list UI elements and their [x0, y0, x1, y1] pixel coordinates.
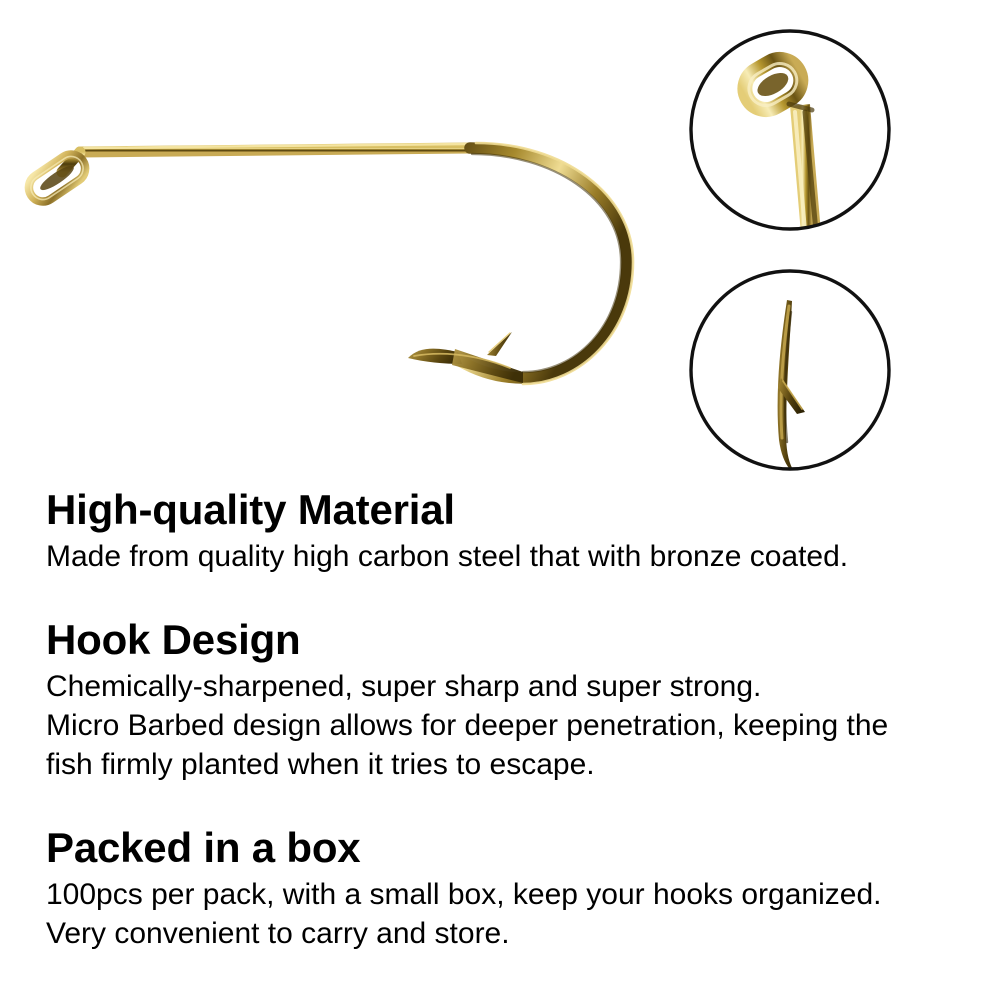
- feature-list: High-quality Material Made from quality …: [46, 486, 956, 953]
- feature-heading: High-quality Material: [46, 486, 956, 533]
- feature-block-material: High-quality Material Made from quality …: [46, 486, 956, 576]
- feature-line: Made from quality high carbon steel that…: [46, 537, 956, 576]
- product-feature-page: High-quality Material Made from quality …: [0, 0, 1000, 1000]
- feature-block-hook-design: Hook Design Chemically-sharpened, super …: [46, 616, 956, 784]
- feature-line: Very convenient to carry and store.: [46, 914, 956, 953]
- hook-barb: [487, 332, 512, 356]
- eye-detail-circle: [690, 30, 890, 245]
- feature-block-packaging: Packed in a box 100pcs per pack, with a …: [46, 824, 956, 953]
- hook-eye: [23, 149, 90, 207]
- feature-line: fish firmly planted when it tries to esc…: [46, 745, 956, 784]
- feature-heading: Packed in a box: [46, 824, 956, 871]
- barb-detail-circle: [690, 270, 890, 478]
- product-hook-image: [0, 0, 1000, 480]
- hook-illustration: [23, 143, 633, 384]
- feature-line: Chemically-sharpened, super sharp and su…: [46, 667, 956, 706]
- feature-line: 100pcs per pack, with a small box, keep …: [46, 875, 956, 914]
- feature-heading: Hook Design: [46, 616, 956, 663]
- hook-bend: [455, 148, 627, 378]
- feature-line: Micro Barbed design allows for deeper pe…: [46, 706, 956, 745]
